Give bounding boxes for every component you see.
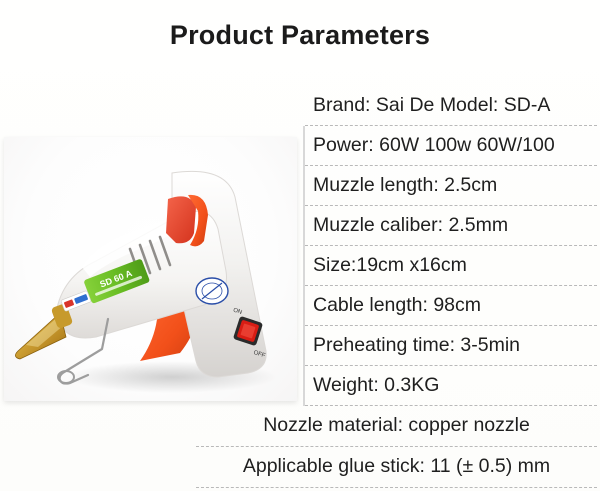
product-parameters-page: Product Parameters [0,0,600,491]
spec-text: Weight: 0.3KG [313,376,439,396]
spec-row-weight: Weight: 0.3KG [305,366,597,406]
spec-list-wide: Nozzle material: copper nozzle Applicabl… [196,406,597,488]
spec-text: Size:19cm x16cm [313,256,467,276]
spec-row-brand: Brand: Sai De Model: SD-A [305,86,597,126]
spec-row-cable-length: Cable length: 98cm [305,286,597,326]
product-photo-panel: SD 60 A ON [4,137,297,401]
spec-text: Nozzle material: copper nozzle [263,416,530,436]
spec-row-muzzle-caliber: Muzzle caliber: 2.5mm [305,206,597,246]
trigger-red [166,196,196,243]
spec-row-muzzle-length: Muzzle length: 2.5cm [305,166,597,206]
spec-row-power: Power: 60W 100w 60W/100 [305,126,597,166]
spec-text: Cable length: 98cm [313,296,481,316]
spec-text: Brand: Sai De Model: SD-A [313,96,550,116]
spec-row-preheating-time: Preheating time: 3-5min [305,326,597,366]
spec-text: Preheating time: 3-5min [313,336,520,356]
page-title: Product Parameters [0,20,600,51]
spec-text: Muzzle caliber: 2.5mm [313,216,508,236]
certification-sticker-icon [196,278,228,304]
spec-row-glue-stick: Applicable glue stick: 11 (± 0.5) mm [196,447,597,488]
spec-text: Power: 60W 100w 60W/100 [313,136,555,156]
spec-text: Applicable glue stick: 11 (± 0.5) mm [243,457,550,477]
spec-row-size: Size:19cm x16cm [305,246,597,286]
spec-row-nozzle-material: Nozzle material: copper nozzle [196,406,597,447]
spec-text: Muzzle length: 2.5cm [313,176,497,196]
spec-list: Brand: Sai De Model: SD-A Power: 60W 100… [305,86,597,406]
hot-glue-gun-illustration: SD 60 A ON [4,137,297,401]
